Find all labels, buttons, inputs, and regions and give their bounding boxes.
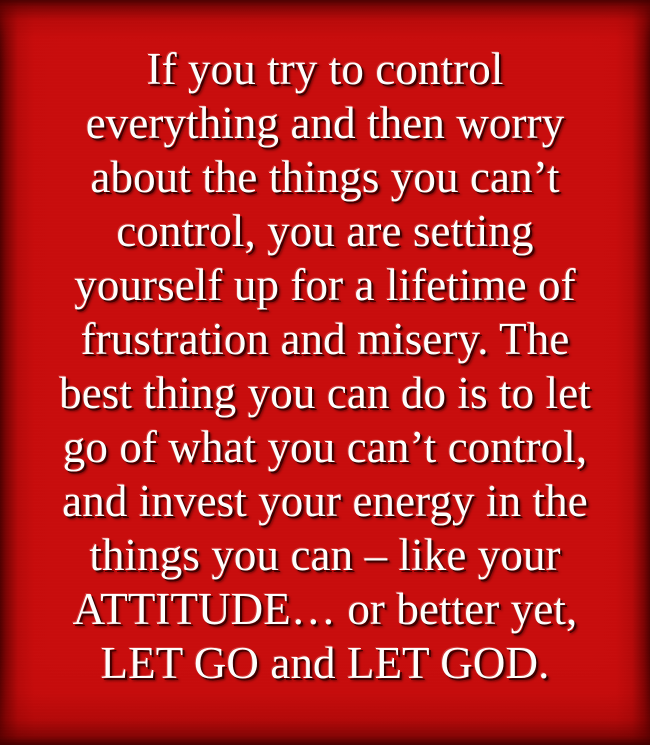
quote-poster: If you try to control everything and the…: [0, 0, 650, 745]
quote-text-block: If you try to control everything and the…: [0, 42, 650, 690]
quote-line: control, you are setting: [14, 204, 636, 258]
quote-line: LET GO and LET GOD.: [14, 636, 636, 690]
quote-line: best thing you can do is to let: [14, 366, 636, 420]
quote-line: ATTITUDE… or better yet,: [14, 582, 636, 636]
quote-line: frustration and misery. The: [14, 312, 636, 366]
quote-line: about the things you can’t: [14, 150, 636, 204]
quote-line: yourself up for a lifetime of: [14, 258, 636, 312]
quote-line: everything and then worry: [14, 96, 636, 150]
quote-line: If you try to control: [14, 42, 636, 96]
quote-line: and invest your energy in the: [14, 474, 636, 528]
quote-line: go of what you can’t control,: [14, 420, 636, 474]
quote-line: things you can – like your: [14, 528, 636, 582]
